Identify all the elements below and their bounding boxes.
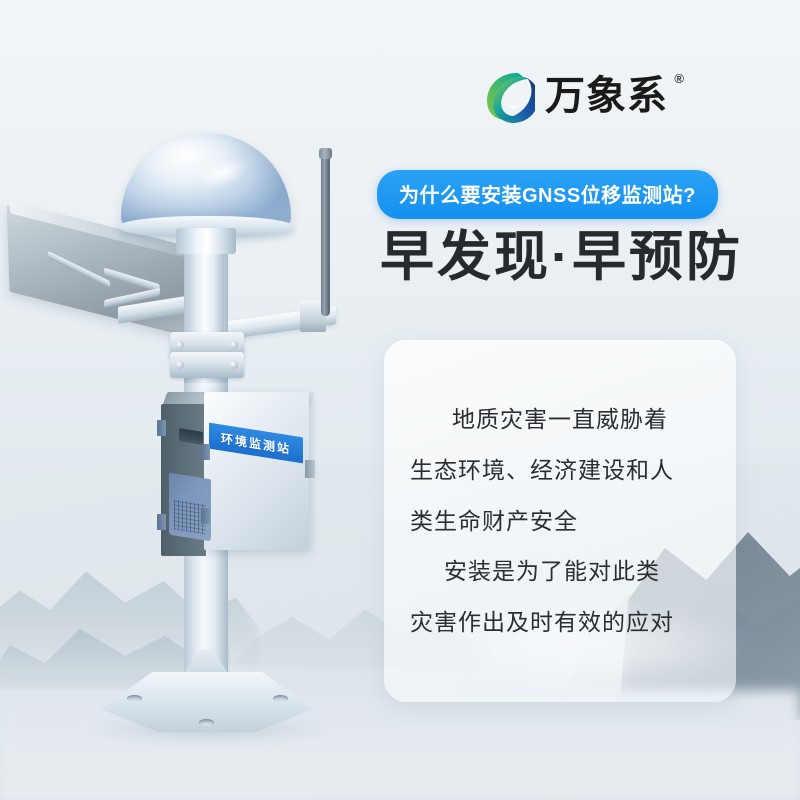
brand-name: 万象系 ® <box>545 76 668 116</box>
clamp-bolt <box>230 341 238 349</box>
equipment-enclosure: 环境监测站 <box>157 382 309 554</box>
copy-line-1: 地质灾害一直威胁着 <box>410 405 710 434</box>
enclosure-hinge-bottom <box>157 514 166 530</box>
enclosure-front-face <box>204 392 309 550</box>
clamp-bolt <box>230 361 238 369</box>
base-bolt-hole-front <box>199 719 214 726</box>
promo-poster: 环境监测站 <box>0 0 800 800</box>
globe-swirl-logo-icon <box>483 68 535 124</box>
gnss-antenna-collar <box>176 228 236 254</box>
whip-antenna <box>321 152 330 316</box>
copy-line-4: 安装是为了能对此类 <box>410 557 710 586</box>
clamp-bolt <box>176 361 184 369</box>
radiation-shield-module <box>169 473 211 542</box>
enclosure-clip-mid <box>201 444 210 460</box>
enclosure-hinge-top <box>157 420 166 436</box>
pole-clamp-lower <box>170 352 244 378</box>
copy-line-2: 生态环境、经济建设和人 <box>410 456 710 485</box>
page-title: 早发现·早预防 <box>380 228 743 287</box>
content-column: 万象系 ® 为什么要安装GNSS位移监测站? 早发现·早预防 地质灾害一直威胁着… <box>368 0 800 800</box>
product-image: 环境监测站 <box>0 0 420 800</box>
copy-line-3: 类生命财产安全 <box>410 507 710 536</box>
copy-line-5: 灾害作出及时有效的应对 <box>410 608 710 637</box>
whip-antenna-cap <box>319 148 332 159</box>
base-bolt-hole-right <box>273 695 288 702</box>
clamp-bolt <box>176 341 184 349</box>
description-card: 地质灾害一直威胁着 生态环境、经济建设和人 类生命财产安全 安装是为了能对此类 … <box>384 340 736 702</box>
base-bolt-hole-left <box>127 695 142 702</box>
brand-lockup: 万象系 ® <box>483 68 668 124</box>
question-banner: 为什么要安装GNSS位移监测站? <box>377 170 718 219</box>
enclosure-clip-low <box>201 508 210 524</box>
enclosure-latch <box>305 460 315 478</box>
brand-name-text: 万象系 <box>545 74 668 118</box>
registered-trademark-icon: ® <box>674 72 685 85</box>
